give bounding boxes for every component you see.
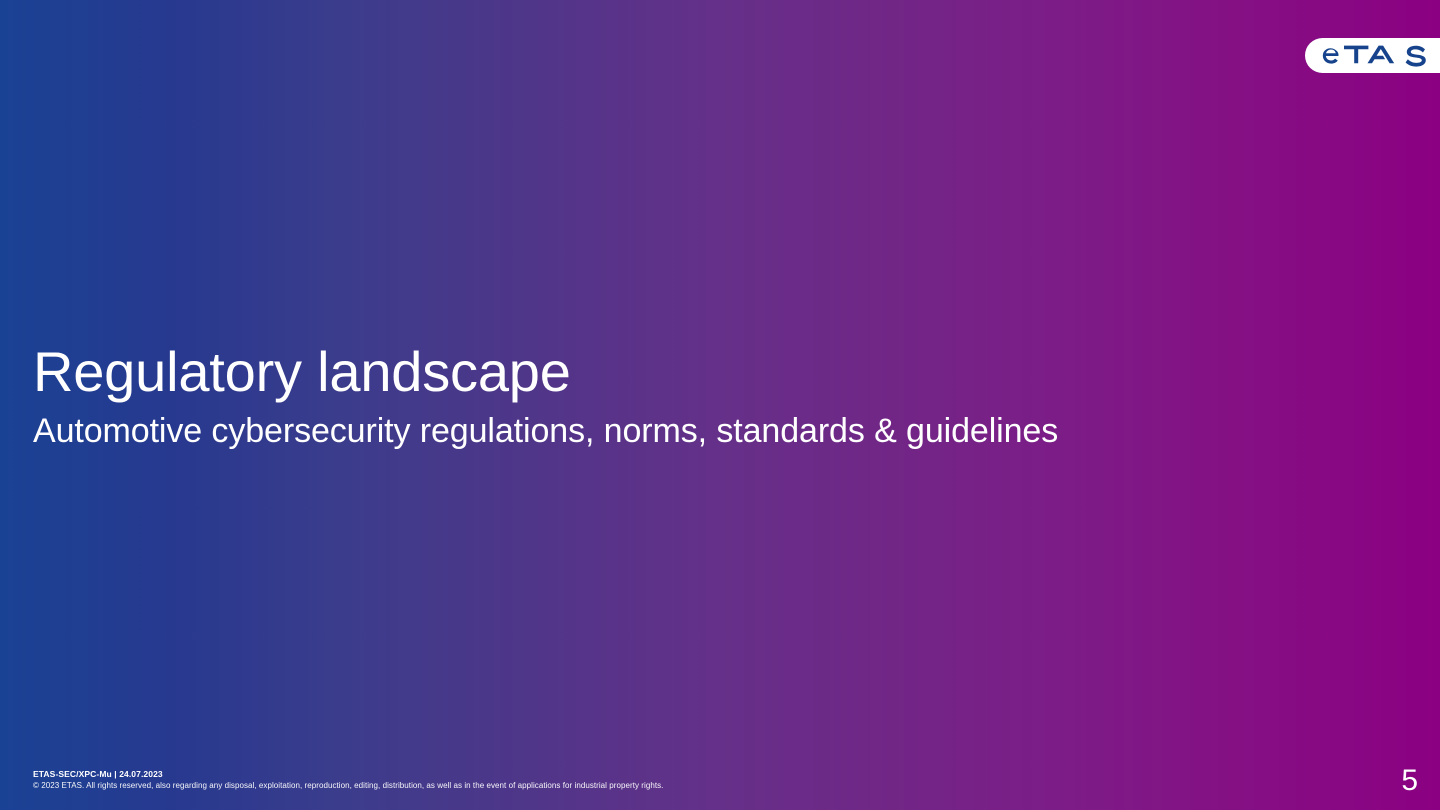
etas-logo-pill xyxy=(1305,38,1440,73)
footer-copyright: © 2023 ETAS. All rights reserved, also r… xyxy=(33,780,663,792)
slide-subtitle: Automotive cybersecurity regulations, no… xyxy=(33,410,1373,452)
slide-footer: ETAS-SEC/XPC-Mu | 24.07.2023 © 2023 ETAS… xyxy=(33,768,663,792)
title-block: Regulatory landscape Automotive cybersec… xyxy=(33,340,1373,452)
presentation-slide: Regulatory landscape Automotive cybersec… xyxy=(0,0,1440,810)
etas-logo-icon xyxy=(1322,45,1426,67)
page-number: 5 xyxy=(1401,764,1418,798)
slide-title: Regulatory landscape xyxy=(33,340,1373,404)
footer-meta: ETAS-SEC/XPC-Mu | 24.07.2023 xyxy=(33,768,663,780)
